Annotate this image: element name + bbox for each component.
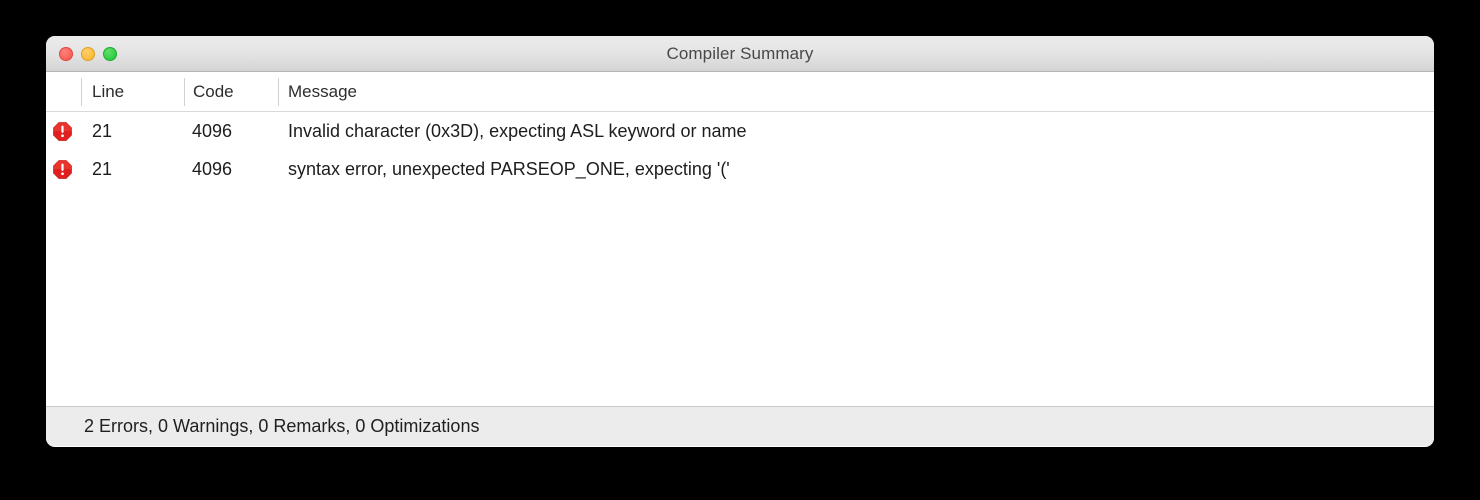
- compiler-summary-window: Compiler Summary Line Code Message 21 40…: [46, 36, 1434, 447]
- error-icon: [52, 121, 73, 142]
- table-row[interactable]: 21 4096 syntax error, unexpected PARSEOP…: [46, 150, 1434, 188]
- code-cell: 4096: [192, 150, 232, 188]
- message-list[interactable]: 21 4096 Invalid character (0x3D), expect…: [46, 112, 1434, 406]
- column-header-code[interactable]: Code: [193, 72, 234, 111]
- code-cell: 4096: [192, 112, 232, 150]
- status-summary-text: 2 Errors, 0 Warnings, 0 Remarks, 0 Optim…: [84, 407, 479, 446]
- window-titlebar[interactable]: Compiler Summary: [46, 36, 1434, 72]
- header-separator-3[interactable]: [278, 78, 279, 106]
- status-bar: 2 Errors, 0 Warnings, 0 Remarks, 0 Optim…: [46, 406, 1434, 446]
- message-cell: syntax error, unexpected PARSEOP_ONE, ex…: [288, 150, 730, 188]
- table-row[interactable]: 21 4096 Invalid character (0x3D), expect…: [46, 112, 1434, 150]
- window-title: Compiler Summary: [46, 36, 1434, 71]
- line-cell: 21: [92, 150, 112, 188]
- line-cell: 21: [92, 112, 112, 150]
- severity-cell: [52, 112, 82, 150]
- column-header-message[interactable]: Message: [288, 72, 357, 111]
- table-header: Line Code Message: [46, 72, 1434, 112]
- header-separator-2[interactable]: [184, 78, 185, 106]
- column-header-line[interactable]: Line: [92, 72, 124, 111]
- header-separator-1: [81, 78, 82, 106]
- message-cell: Invalid character (0x3D), expecting ASL …: [288, 112, 747, 150]
- severity-cell: [52, 150, 82, 188]
- error-icon: [52, 159, 73, 180]
